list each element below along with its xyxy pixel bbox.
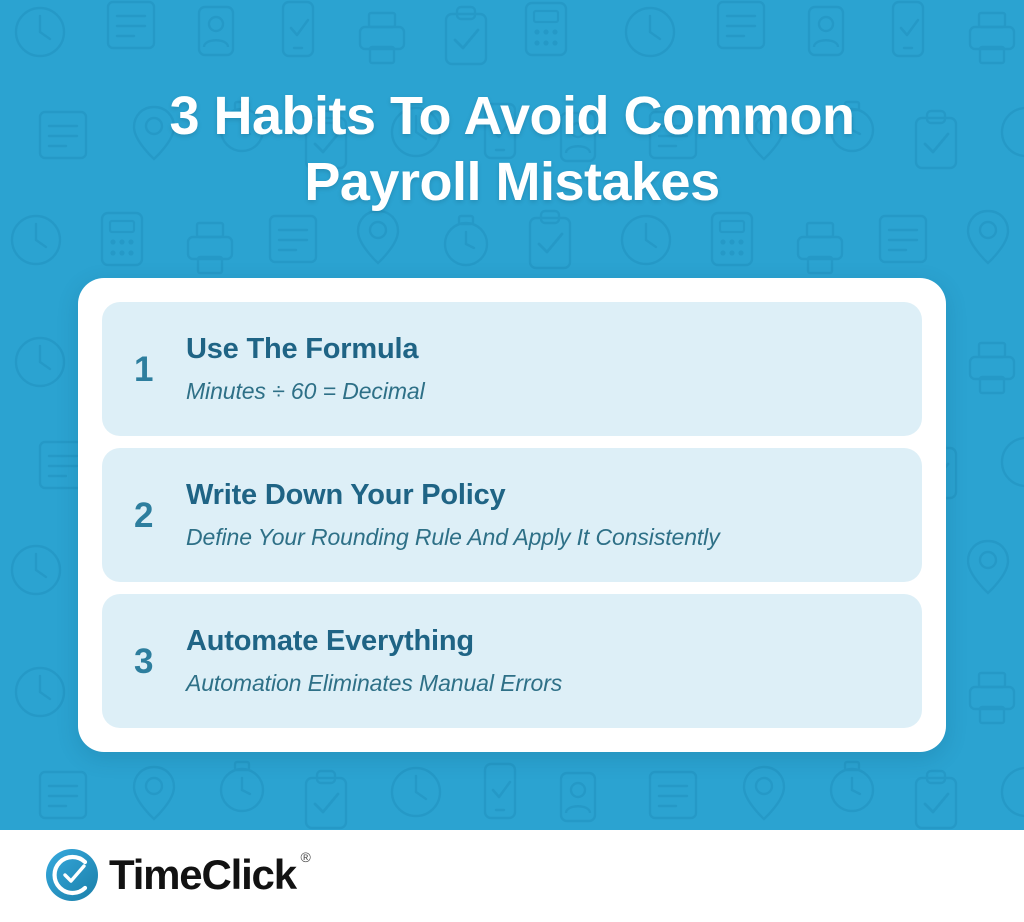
habit-item-2[interactable]: 2 Write Down Your Policy Define Your Rou…: [102, 448, 922, 582]
habit-content: Use The Formula Minutes ÷ 60 = Decimal: [186, 334, 904, 404]
page-title-line-1: 3 Habits To Avoid Common: [169, 86, 854, 146]
infographic-page: 3 Habits To Avoid Common Payroll Mistake…: [0, 0, 1024, 922]
habit-item-3[interactable]: 3 Automate Everything Automation Elimina…: [102, 594, 922, 728]
habit-item-1[interactable]: 1 Use The Formula Minutes ÷ 60 = Decimal: [102, 302, 922, 436]
page-title-line-2: Payroll Mistakes: [304, 152, 719, 212]
habit-content: Write Down Your Policy Define Your Round…: [186, 480, 904, 550]
habit-title: Automate Everything: [186, 626, 904, 656]
registered-trademark-mark: ®: [301, 850, 311, 864]
habit-subtitle: Automation Eliminates Manual Errors: [186, 671, 904, 696]
habit-subtitle: Define Your Rounding Rule And Apply It C…: [186, 525, 904, 550]
habit-number: 1: [128, 352, 186, 387]
page-title: 3 Habits To Avoid Common Payroll Mistake…: [0, 84, 1024, 216]
habit-subtitle: Minutes ÷ 60 = Decimal: [186, 379, 904, 404]
timeclick-clock-logo-icon: [45, 848, 99, 902]
habit-title: Use The Formula: [186, 334, 904, 364]
habit-title: Write Down Your Policy: [186, 480, 904, 510]
footer-bar: TimeClick ®: [0, 830, 1024, 922]
brand-logo[interactable]: TimeClick ®: [45, 848, 296, 902]
habits-card: 1 Use The Formula Minutes ÷ 60 = Decimal…: [78, 278, 946, 752]
habit-number: 3: [128, 644, 186, 679]
brand-logo-text: TimeClick ®: [109, 854, 296, 896]
habit-content: Automate Everything Automation Eliminate…: [186, 626, 904, 696]
brand-name: TimeClick: [109, 851, 296, 898]
habit-number: 2: [128, 498, 186, 533]
hero-section: 3 Habits To Avoid Common Payroll Mistake…: [0, 0, 1024, 830]
